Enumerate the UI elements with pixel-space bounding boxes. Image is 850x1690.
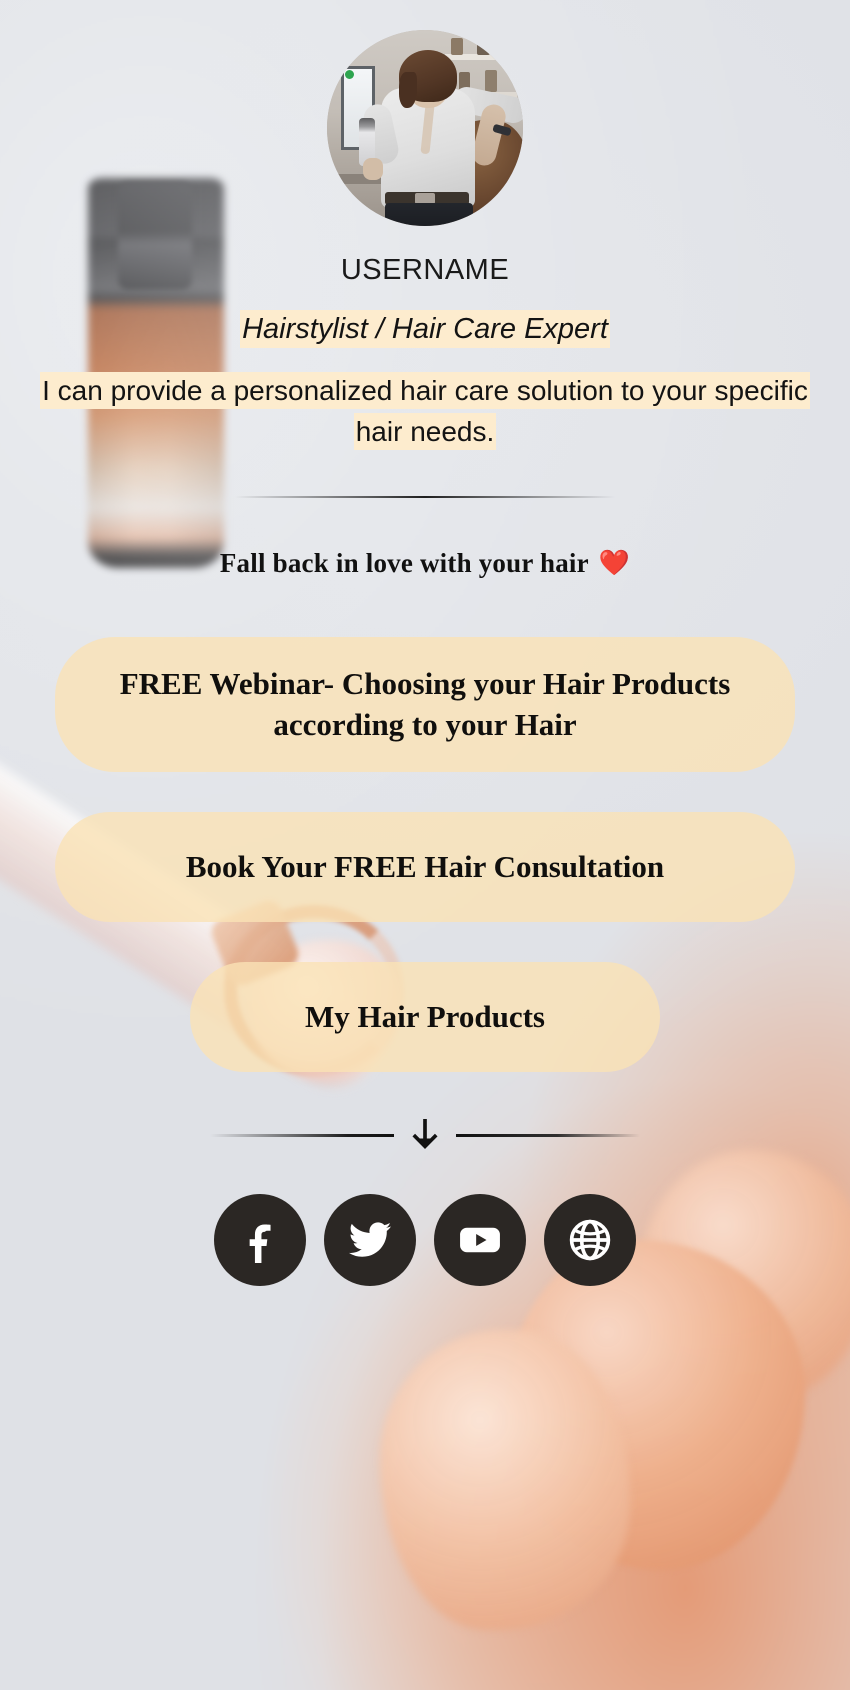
role-line: Hairstylist / Hair Care Expert (35, 311, 815, 349)
arrow-divider (210, 1118, 640, 1152)
facebook-icon (237, 1217, 283, 1263)
arrow-down-icon (408, 1118, 442, 1152)
twitter-icon (347, 1217, 393, 1263)
username: USERNAME (341, 254, 509, 287)
role-text: Hairstylist / Hair Care Expert (240, 310, 610, 348)
bio-block: Hairstylist / Hair Care Expert I can pro… (35, 311, 815, 452)
avatar[interactable] (327, 30, 523, 226)
avatar-photo (327, 30, 523, 226)
headline: Fall back in love with your hair ❤️ (220, 548, 630, 579)
section-divider (235, 496, 615, 498)
social-button-website[interactable] (544, 1194, 636, 1286)
link-button-my-hair-products[interactable]: My Hair Products (190, 962, 660, 1072)
youtube-icon (457, 1217, 503, 1263)
link-list: FREE Webinar- Choosing your Hair Product… (0, 637, 850, 1072)
social-links (214, 1194, 636, 1286)
headline-text: Fall back in love with your hair (220, 548, 589, 579)
social-button-youtube[interactable] (434, 1194, 526, 1286)
divider-line-right (456, 1134, 640, 1137)
bio-text: I can provide a personalized hair care s… (40, 372, 810, 450)
globe-icon (567, 1217, 613, 1263)
link-in-bio-page: USERNAME Hairstylist / Hair Care Expert … (0, 0, 850, 1690)
link-button-book-consultation[interactable]: Book Your FREE Hair Consultation (55, 812, 795, 922)
social-button-facebook[interactable] (214, 1194, 306, 1286)
divider-line-left (210, 1134, 394, 1137)
link-button-free-webinar[interactable]: FREE Webinar- Choosing your Hair Product… (55, 637, 795, 772)
social-button-twitter[interactable] (324, 1194, 416, 1286)
heart-icon: ❤️ (599, 551, 630, 576)
bio-line: I can provide a personalized hair care s… (35, 371, 815, 453)
